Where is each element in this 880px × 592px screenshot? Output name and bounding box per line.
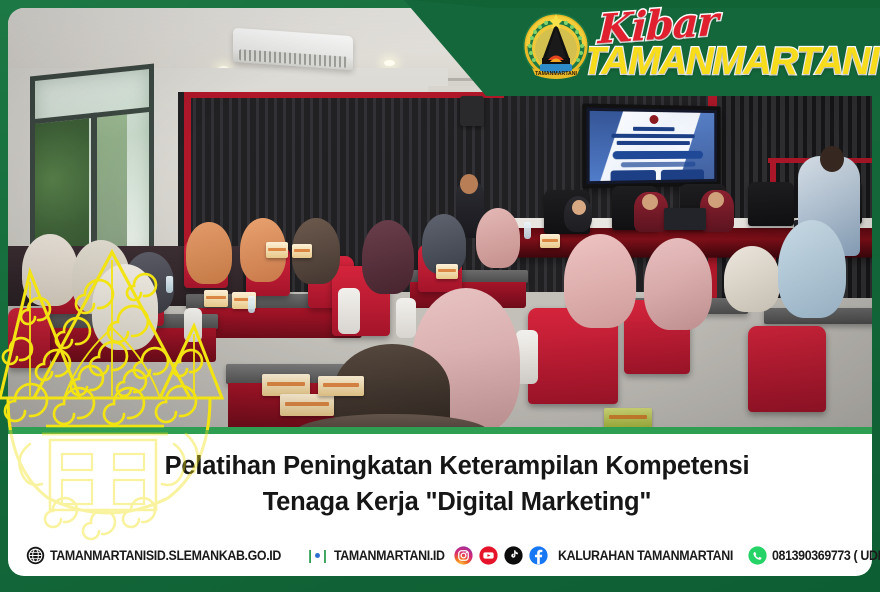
slide-box — [661, 169, 704, 181]
slide-pill — [621, 162, 696, 168]
brand-main-word: TAMANMARTANI — [582, 40, 878, 84]
attendee-hijab — [564, 234, 636, 328]
audience-seat — [748, 326, 826, 412]
water-bottle — [524, 222, 531, 239]
snack-box — [318, 376, 364, 396]
facebook-icon[interactable] — [529, 546, 548, 565]
snack-box — [266, 242, 288, 258]
snack-box — [436, 264, 458, 279]
snack-box — [292, 244, 312, 258]
event-title: Pelatihan Peningkatan Keterampilan Kompe… — [68, 448, 846, 520]
ceiling-light — [384, 60, 395, 66]
globe-icon — [26, 546, 45, 565]
attendee-hijab — [724, 246, 780, 312]
footer-separator: | | — [308, 547, 327, 563]
footer-bar: TAMANMARTANISID.SLEMANKAB.GO.ID | | TAMA… — [8, 538, 872, 572]
projector-screen — [582, 103, 720, 188]
slide-title-line — [612, 134, 695, 138]
poster-canvas: TAMANMARTANI Kibar TAMANMARTANI — [0, 0, 880, 592]
executive-chair — [748, 182, 794, 226]
attendee-hijab — [644, 238, 712, 330]
slide-pill — [613, 151, 703, 159]
slide-emblem — [650, 115, 659, 124]
snack-box — [280, 394, 334, 416]
ceiling-light — [494, 46, 505, 52]
social-handle: KALURAHAN TAMANMARTANI — [558, 548, 733, 563]
village-crest-logo: TAMANMARTANI — [518, 8, 594, 84]
attendee-hijab — [22, 234, 78, 306]
seat-armrest — [396, 298, 416, 338]
wall-red-trim — [184, 92, 504, 98]
whatsapp-item[interactable]: 081390369773 ( UDIN KTP ) — [748, 546, 880, 565]
brand-lockup: Kibar TAMANMARTANI — [584, 2, 874, 88]
seat-armrest — [184, 308, 202, 342]
attendee-hijab — [186, 222, 232, 284]
attendee-hijab — [92, 264, 158, 350]
seat-armrest — [338, 288, 360, 334]
presenter-face — [708, 192, 724, 208]
separator-bar-right: | — [323, 547, 327, 563]
snack-box — [540, 234, 560, 248]
presenter-face — [642, 194, 658, 210]
snack-box — [262, 374, 310, 396]
youtube-icon[interactable] — [479, 546, 498, 565]
site-alt-url: TAMANMARTANI.ID — [334, 548, 445, 563]
snack-box — [204, 290, 228, 307]
presentation-slide — [590, 111, 715, 181]
website-item[interactable]: TAMANMARTANISID.SLEMANKAB.GO.ID — [26, 546, 301, 565]
window-mullion — [91, 112, 97, 260]
attendee-head — [460, 174, 478, 194]
social-icon-row — [454, 546, 551, 565]
attendee-head — [820, 146, 844, 172]
attendee-hijab — [778, 220, 846, 318]
instagram-icon[interactable] — [454, 546, 473, 565]
event-title-line-2: Tenaga Kerja "Digital Marketing" — [263, 488, 652, 516]
attendee-hijab — [476, 208, 520, 268]
audience-seat — [8, 308, 50, 368]
whatsapp-icon[interactable] — [748, 546, 767, 565]
attendee-hijab — [362, 220, 414, 294]
water-bottle — [248, 296, 255, 313]
slide-title-line — [617, 141, 690, 145]
laptop — [664, 208, 706, 230]
title-card: Pelatihan Peningkatan Keterampilan Kompe… — [8, 434, 872, 576]
tiktok-icon[interactable] — [504, 546, 523, 565]
presenter-face — [572, 200, 586, 215]
wall-speaker — [460, 96, 484, 126]
whatsapp-number: 081390369773 ( UDIN KTP ) — [772, 548, 880, 563]
green-divider-stripe — [8, 427, 872, 434]
window-foliage — [97, 114, 127, 259]
slide-box — [611, 170, 656, 181]
snack-box — [604, 408, 652, 428]
water-bottle — [166, 276, 173, 293]
website-url: TAMANMARTANISID.SLEMANKAB.GO.ID — [50, 548, 281, 563]
slide-title-line — [633, 127, 674, 131]
separator-bar-left: | — [308, 547, 312, 563]
event-title-line-1: Pelatihan Peningkatan Keterampilan Kompe… — [165, 452, 750, 480]
separator-dot — [315, 553, 320, 558]
svg-text:TAMANMARTANI: TAMANMARTANI — [535, 71, 577, 77]
